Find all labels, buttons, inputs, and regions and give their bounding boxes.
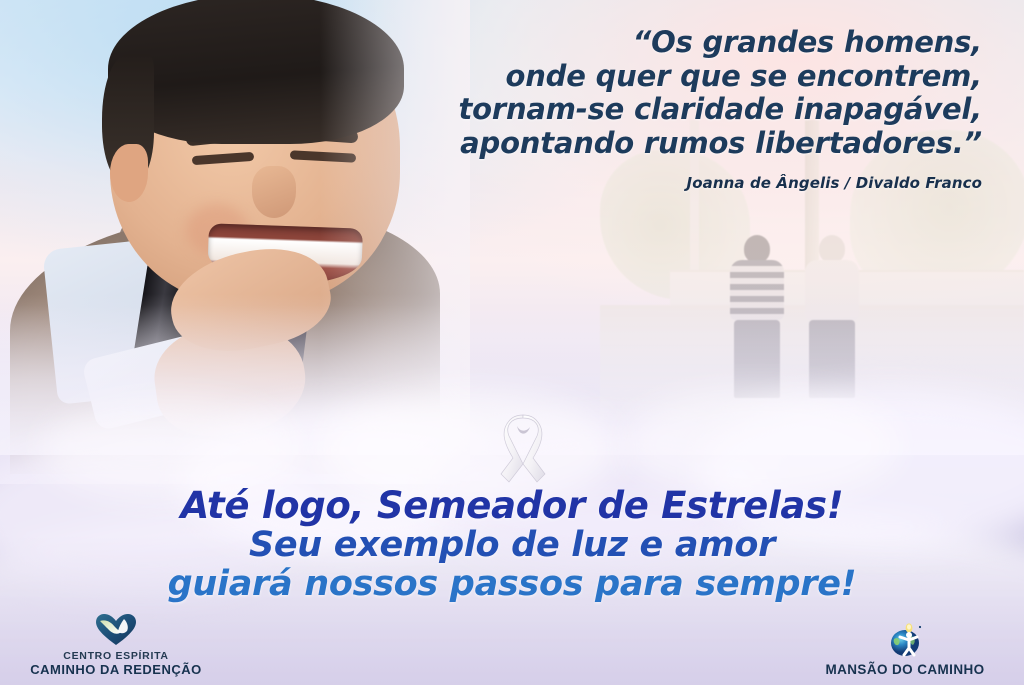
headline-line-3: guiará nossos passos para sempre! (0, 565, 1024, 604)
logo-left-line-1: CENTRO ESPÍRITA (16, 650, 216, 662)
globe-with-figure-icon (800, 623, 1010, 657)
logo-mansao-do-caminho: MANSÃO DO CAMINHO (800, 623, 1010, 677)
white-ribbon-icon (493, 412, 553, 484)
logo-right-line-1: MANSÃO DO CAMINHO (800, 662, 1010, 677)
logo-centro-espirita-caminho-da-redencao: CENTRO ESPÍRITA CAMINHO DA REDENÇÃO (16, 613, 216, 677)
quote-line-3: tornam-se claridade inapagável, (342, 93, 982, 127)
heart-with-hands-icon (16, 613, 216, 647)
quote-block: “Os grandes homens, onde quer que se enc… (342, 26, 982, 192)
quote-line-4: apontando rumos libertadores.” (342, 127, 982, 161)
headline-line-2: Seu exemplo de luz e amor (0, 526, 1024, 565)
headline-line-1: Até logo, Semeador de Estrelas! (0, 485, 1024, 526)
quote-line-1: “Os grandes homens, (342, 26, 982, 60)
headline-block: Até logo, Semeador de Estrelas! Seu exem… (0, 485, 1024, 604)
memorial-poster: “Os grandes homens, onde quer que se enc… (0, 0, 1024, 685)
logo-left-line-2: CAMINHO DA REDENÇÃO (16, 662, 216, 677)
quote-author: Joanna de Ângelis / Divaldo Franco (342, 174, 982, 192)
quote-line-2: onde quer que se encontrem, (342, 60, 982, 94)
